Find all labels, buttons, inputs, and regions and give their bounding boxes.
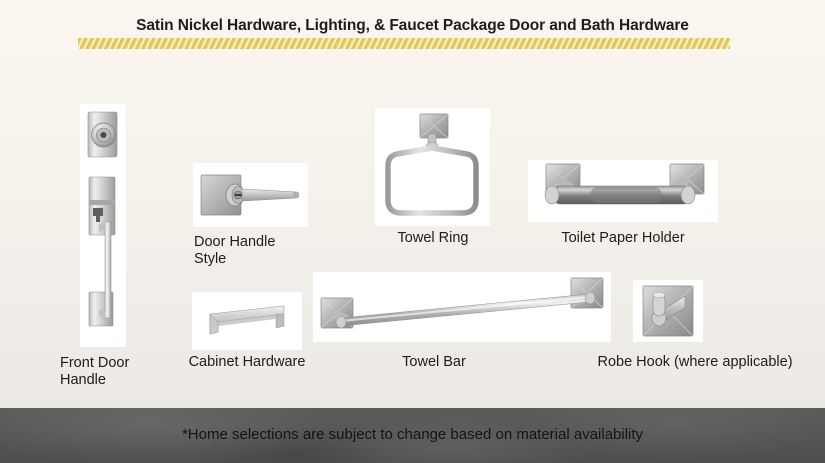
- product-label-robe-hook: Robe Hook (where applicable): [595, 354, 795, 371]
- product-image-toilet-paper-holder: [528, 160, 718, 222]
- gold-dashed-divider-icon: [78, 38, 730, 49]
- product-image-robe-hook: [633, 280, 703, 342]
- product-label-cabinet-hardware: Cabinet Hardware: [178, 354, 316, 371]
- product-label-towel-ring: Towel Ring: [372, 230, 494, 247]
- page-title: Satin Nickel Hardware, Lighting, & Fauce…: [0, 17, 825, 35]
- product-label-front-door-handle: Front Door Handle: [60, 355, 170, 389]
- product-image-cabinet-hardware: [192, 292, 302, 350]
- product-image-door-handle-style: [193, 163, 308, 227]
- product-label-door-handle-style: Door Handle Style: [194, 234, 304, 268]
- slide-canvas: Satin Nickel Hardware, Lighting, & Fauce…: [0, 0, 825, 463]
- footer-disclaimer-text: *Home selections are subject to change b…: [0, 426, 825, 443]
- product-label-toilet-paper-holder: Toilet Paper Holder: [530, 230, 716, 247]
- product-image-towel-bar: [313, 272, 611, 342]
- product-image-front-door-handle: [80, 104, 126, 347]
- product-label-towel-bar: Towel Bar: [370, 354, 498, 371]
- footer-banner: *Home selections are subject to change b…: [0, 408, 825, 463]
- product-image-towel-ring: [375, 108, 490, 226]
